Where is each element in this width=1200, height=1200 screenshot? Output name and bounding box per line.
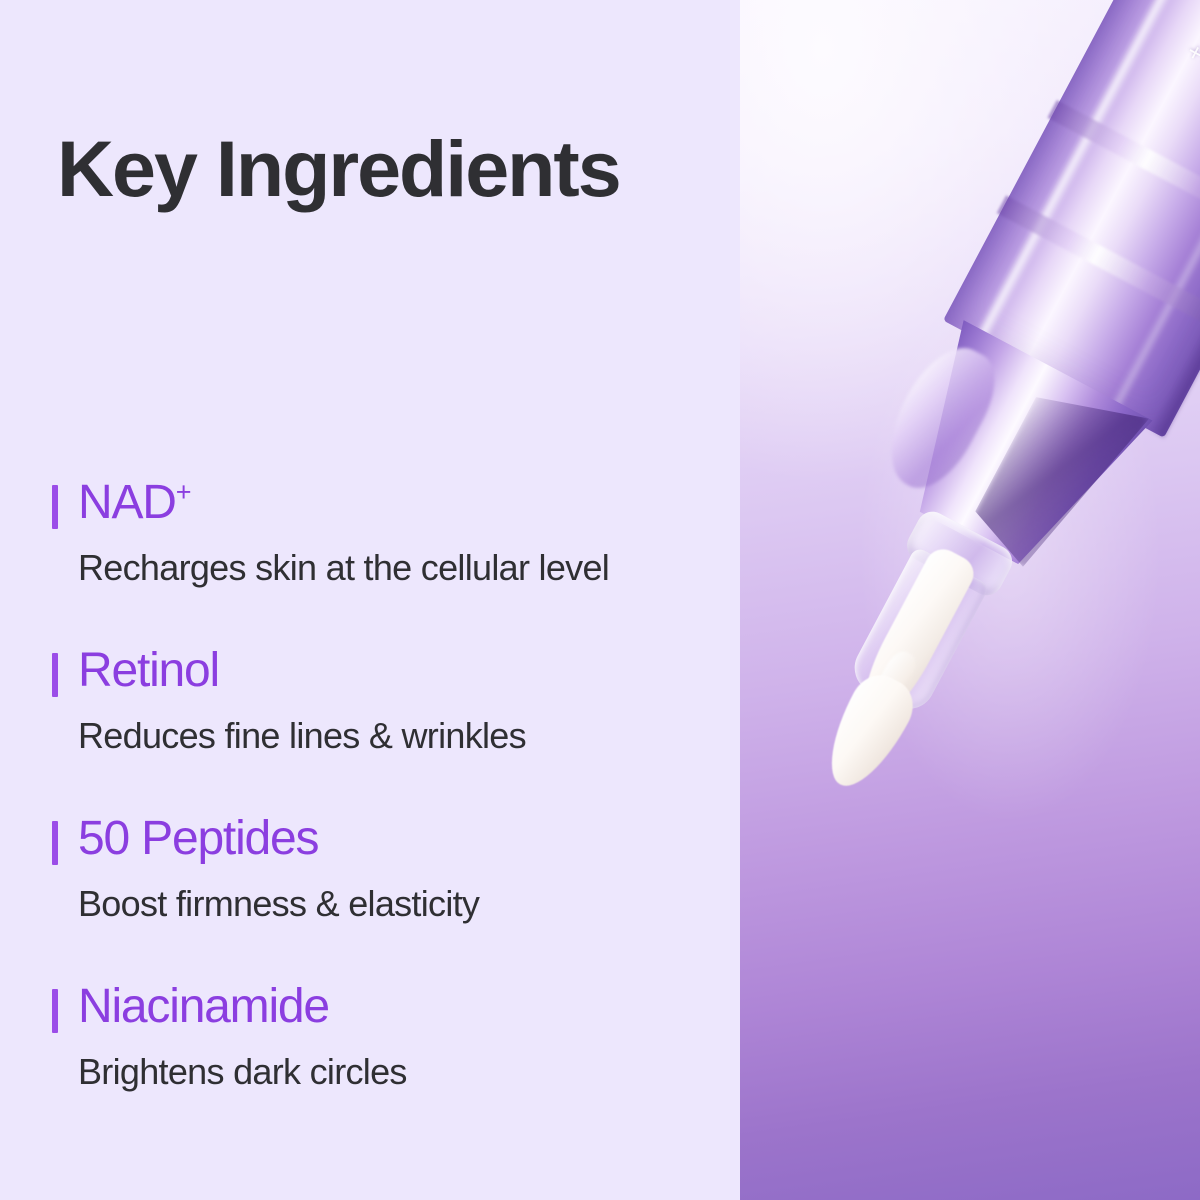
ingredient-item-retinol: Retinol Reduces fine lines & wrinkles [0,646,740,814]
ingredient-item-niacinamide: Niacinamide Brightens dark circles [0,982,740,1150]
ingredient-list: NAD+ Recharges skin at the cellular leve… [0,478,740,1150]
ingredient-name-text: 50 Peptides [78,812,318,865]
accent-bar-icon [52,821,58,865]
product-tube: numbuzin NAD+ [765,0,1200,773]
product-ingredients-graphic: Key Ingredients NAD+ Recharges skin at t… [0,0,1200,1200]
ingredient-name-superscript: + [176,477,191,507]
accent-bar-icon [52,989,58,1033]
ingredient-name-text: Retinol [78,644,219,697]
ingredient-name: NAD+ [78,473,190,533]
ingredient-item-50-peptides: 50 Peptides Boost firmness & elasticity [0,814,740,982]
ingredient-name-text: NAD [78,476,176,529]
accent-bar-icon [52,653,58,697]
ingredient-name: Niacinamide [78,977,329,1037]
ingredient-description: Reduces fine lines & wrinkles [78,713,526,760]
ingredient-name-text: Niacinamide [78,980,329,1033]
ingredient-item-nad: NAD+ Recharges skin at the cellular leve… [0,478,740,646]
page-title: Key Ingredients [57,129,620,208]
accent-bar-icon [52,485,58,529]
text-panel: Key Ingredients NAD+ Recharges skin at t… [0,0,740,1200]
ingredient-description: Boost firmness & elasticity [78,881,479,928]
ingredient-name: 50 Peptides [78,809,318,869]
product-image-panel: numbuzin NAD+ [740,0,1200,1200]
ingredient-description: Brightens dark circles [78,1049,407,1096]
ingredient-description: Recharges skin at the cellular level [78,545,609,592]
ingredient-name: Retinol [78,641,219,701]
